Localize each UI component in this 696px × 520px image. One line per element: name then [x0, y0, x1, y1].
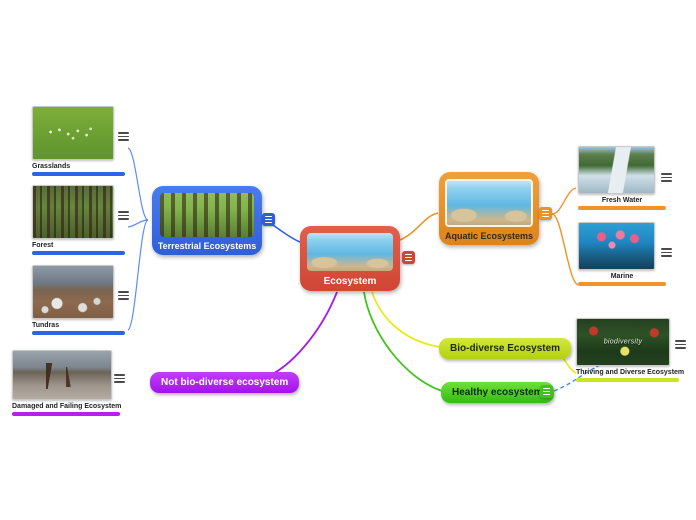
damaged-ecosystem-label: Damaged and Failing Ecosystem: [12, 403, 121, 410]
not-biodiverse-label: Not bio-diverse ecosystem: [161, 377, 288, 388]
node-root-ecosystem[interactable]: Ecosystem: [300, 226, 400, 291]
aquatic-note-icon[interactable]: [539, 207, 552, 220]
node-healthy-ecosystem[interactable]: Healthy ecosystem: [441, 382, 554, 403]
healthy-label: Healthy ecosystem: [452, 387, 543, 398]
node-fresh-water[interactable]: Fresh Water: [578, 146, 666, 210]
node-aquatic-ecosystems[interactable]: Aquatic Ecosystems: [439, 172, 539, 245]
node-not-biodiverse-ecosystem[interactable]: Not bio-diverse ecosystem: [150, 372, 299, 393]
tundras-menu-hamburger-icon[interactable]: [118, 290, 129, 301]
fresh-water-underline: [578, 206, 666, 210]
thriving-image-caption: biodiversity: [577, 339, 669, 346]
damaged-ecosystem-thumbnail: [12, 350, 112, 400]
fresh-water-label: Fresh Water: [602, 197, 642, 204]
root-ecosystem-label: Ecosystem: [324, 276, 377, 287]
node-thriving-diverse-ecosystem[interactable]: biodiversity Thriving and Diverse Ecosys…: [576, 318, 684, 382]
fresh-water-thumbnail: [578, 146, 655, 194]
tundras-label: Tundras: [32, 322, 59, 329]
link-aquatic-freshwater: [552, 188, 576, 214]
terrestrial-label: Terrestrial Ecosystems: [158, 241, 256, 251]
link-terrestrial-tundras: [128, 220, 148, 330]
grasslands-underline: [32, 172, 125, 176]
link-aquatic-marine: [552, 214, 578, 285]
forest-thumbnail: [32, 185, 114, 239]
marine-underline: [578, 282, 666, 286]
tundras-underline: [32, 331, 125, 335]
terrestrial-thumbnail: [160, 193, 254, 237]
node-marine[interactable]: Marine: [578, 222, 666, 286]
tundras-thumbnail: [32, 265, 114, 319]
grasslands-thumbnail: [32, 106, 114, 160]
node-biodiverse-ecosystem[interactable]: Bio-diverse Ecosystem: [439, 338, 571, 359]
thriving-ecosystem-thumbnail: biodiversity: [576, 318, 670, 366]
node-forest[interactable]: Forest: [32, 185, 125, 255]
link-root-aquatic: [400, 213, 438, 240]
root-ecosystem-thumbnail: [307, 233, 393, 271]
thriving-ecosystem-label: Thriving and Diverse Ecosystem: [576, 369, 684, 376]
aquatic-label: Aquatic Ecosystems: [445, 231, 533, 241]
terrestrial-note-icon[interactable]: [262, 213, 275, 226]
root-note-icon[interactable]: [402, 251, 415, 264]
grasslands-label: Grasslands: [32, 163, 70, 170]
marine-menu-hamburger-icon[interactable]: [661, 247, 672, 258]
forest-label: Forest: [32, 242, 53, 249]
link-terrestrial-forest: [128, 220, 148, 227]
mindmap-canvas: Grasslands Forest Tundras Damaged and Fa…: [0, 0, 696, 520]
healthy-note-icon[interactable]: [540, 385, 553, 398]
aquatic-thumbnail: [445, 179, 533, 227]
link-root-notbiodiverse: [262, 292, 337, 379]
biodiverse-label: Bio-diverse Ecosystem: [450, 343, 560, 354]
forest-underline: [32, 251, 125, 255]
thriving-ecosystem-menu-hamburger-icon[interactable]: [675, 339, 686, 350]
fresh-water-menu-hamburger-icon[interactable]: [661, 172, 672, 183]
marine-thumbnail: [578, 222, 655, 270]
link-terrestrial-grasslands: [128, 148, 148, 220]
link-root-biodiverse: [372, 292, 440, 347]
damaged-ecosystem-underline: [12, 412, 120, 416]
marine-label: Marine: [611, 273, 634, 280]
thriving-ecosystem-underline: [576, 378, 679, 382]
node-terrestrial-ecosystems[interactable]: Terrestrial Ecosystems: [152, 186, 262, 255]
forest-menu-hamburger-icon[interactable]: [118, 210, 129, 221]
node-damaged-failing-ecosystem[interactable]: Damaged and Failing Ecosystem: [12, 350, 121, 416]
node-grasslands[interactable]: Grasslands: [32, 106, 125, 176]
grasslands-menu-hamburger-icon[interactable]: [118, 131, 129, 142]
link-root-healthy: [364, 292, 442, 391]
node-tundras[interactable]: Tundras: [32, 265, 125, 335]
damaged-ecosystem-menu-hamburger-icon[interactable]: [114, 373, 125, 384]
